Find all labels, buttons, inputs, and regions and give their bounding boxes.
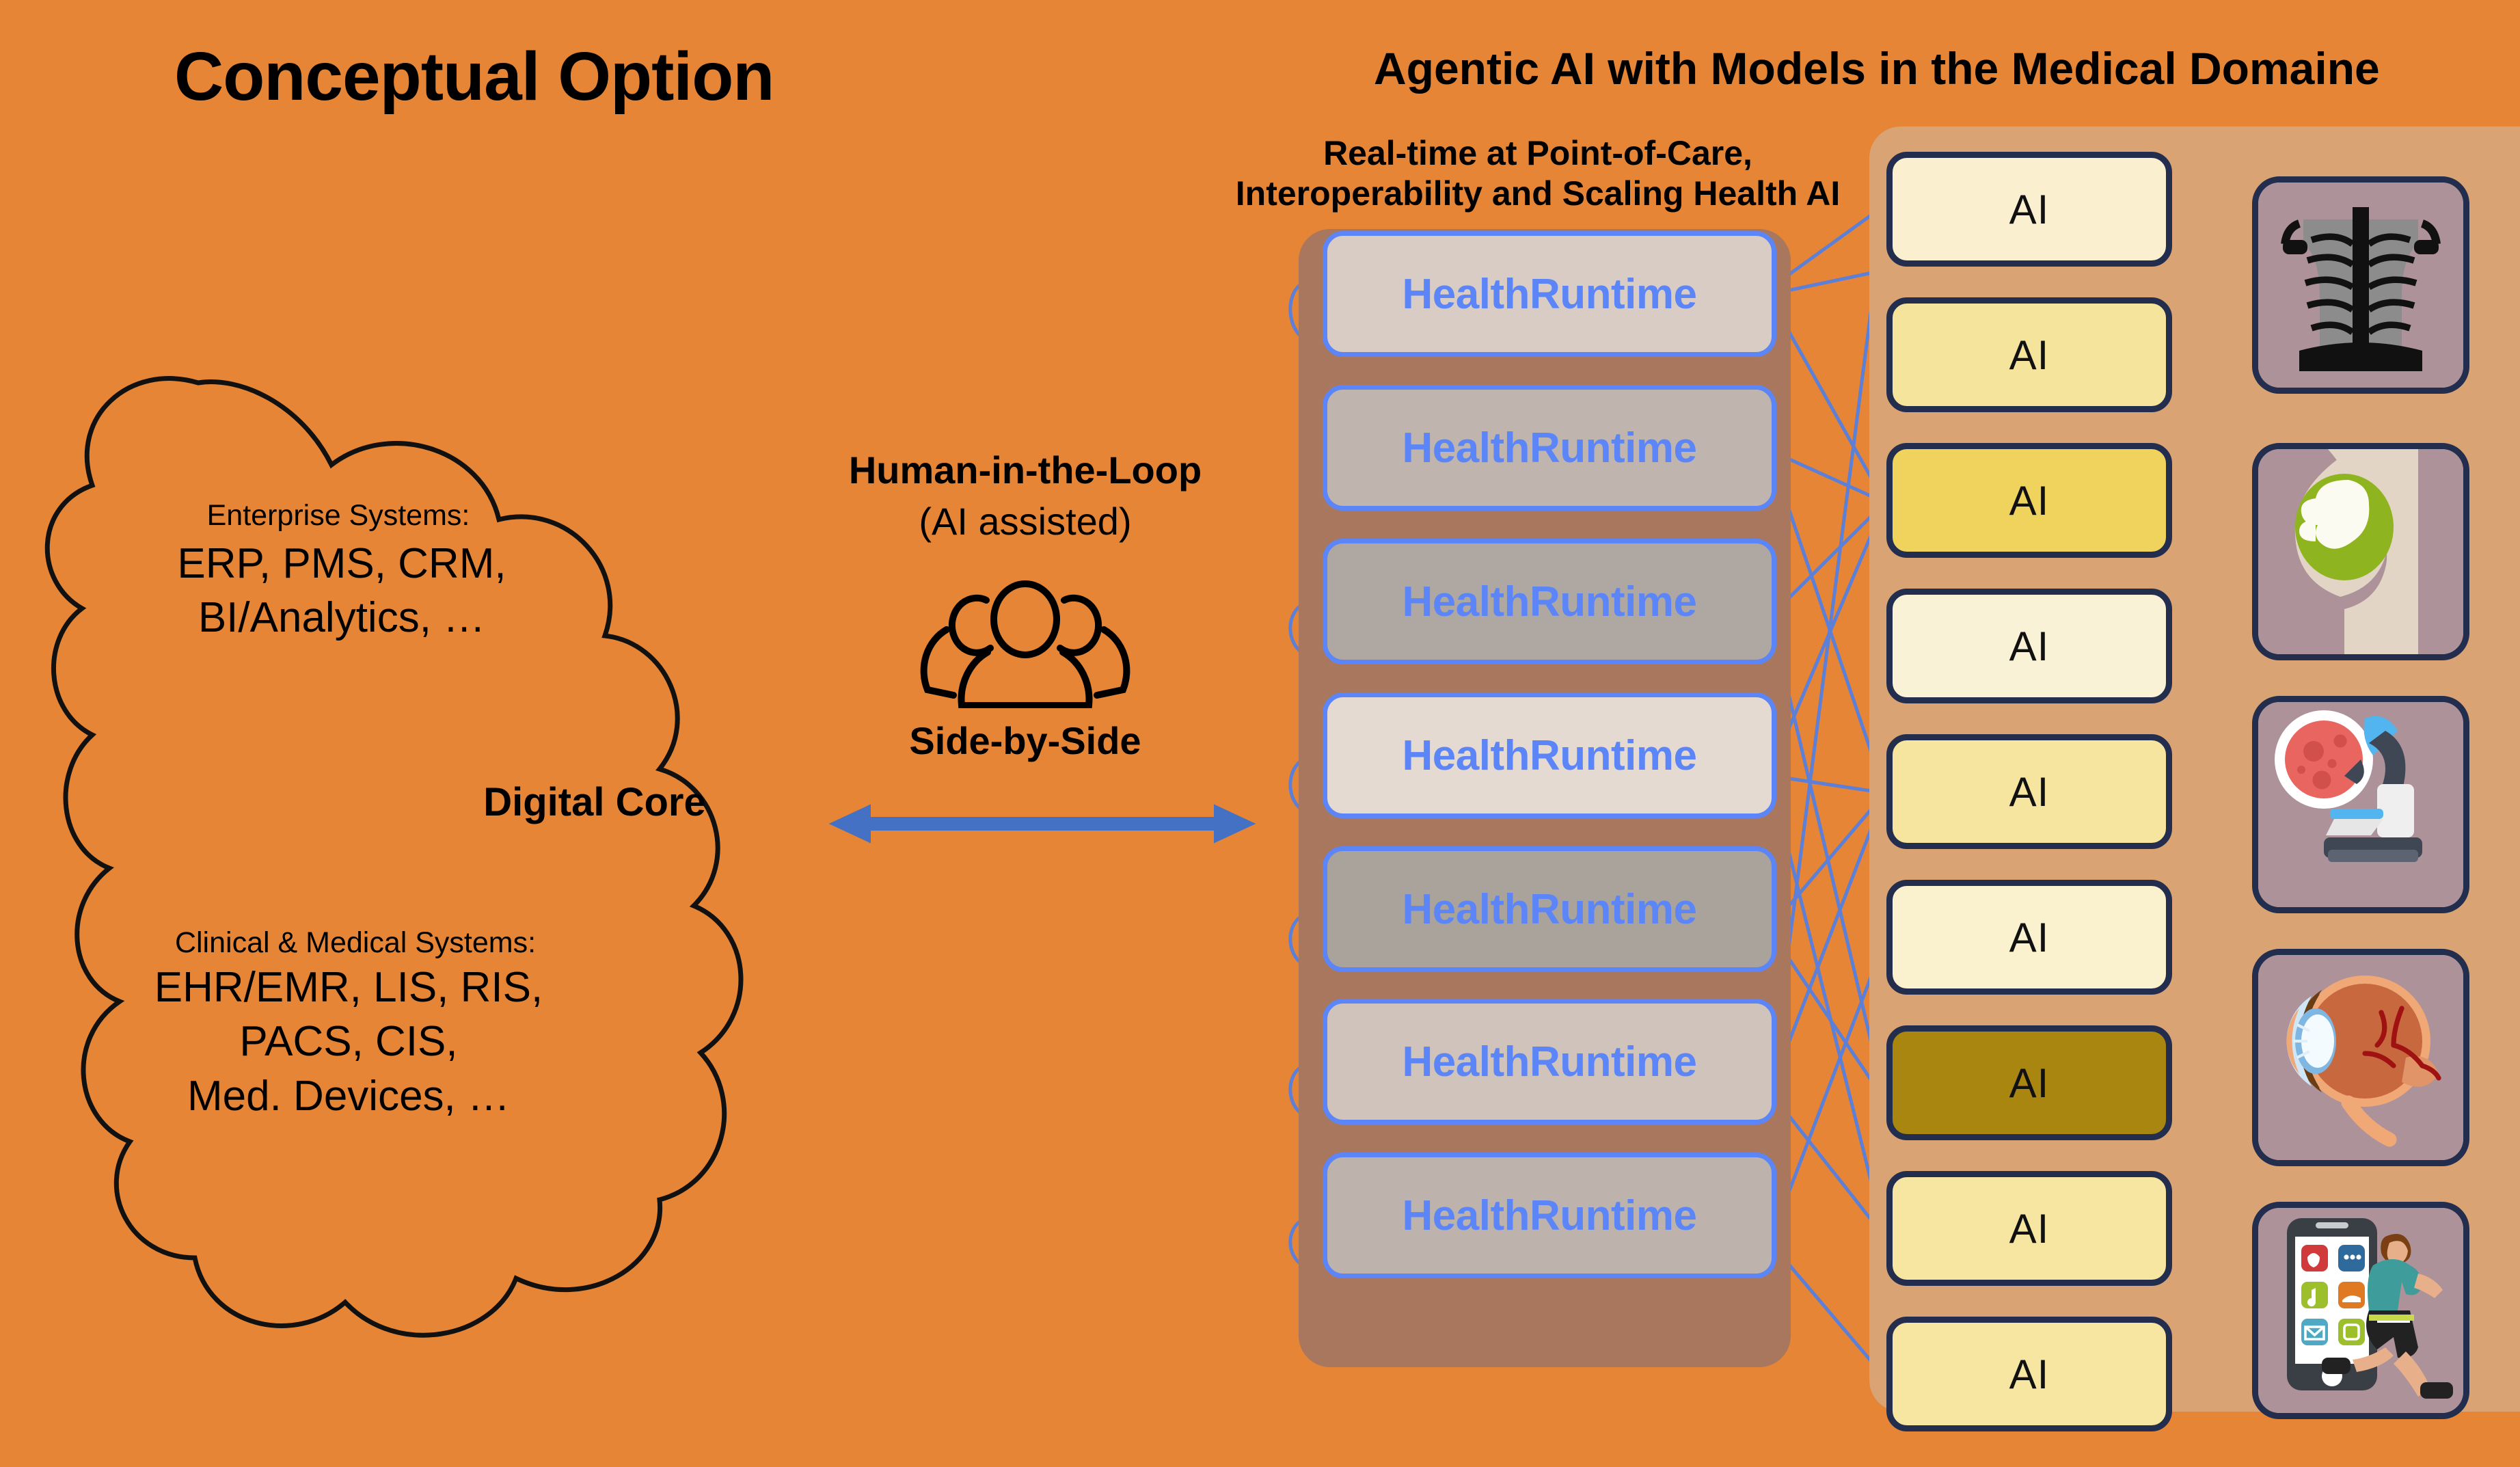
enterprise-line-1: ERP, PMS, CRM, <box>123 537 560 591</box>
health-runtime-label: HealthRuntime <box>1403 1038 1697 1086</box>
ai-model-label: AI <box>2009 768 2050 816</box>
health-runtime-label: HealthRuntime <box>1403 270 1697 319</box>
ai-model-box[interactable]: AI <box>1886 1317 2172 1431</box>
double-headed-arrow-icon <box>824 803 1261 844</box>
eye-anatomy-icon <box>2258 955 2463 1160</box>
digital-core-cloud: Enterprise Systems: ERP, PMS, CRM, BI/An… <box>27 246 875 1408</box>
subtitle-line-1: Real-time at Point-of-Care, <box>1210 133 1866 174</box>
health-runtime-label: HealthRuntime <box>1403 578 1697 626</box>
health-runtime-label: HealthRuntime <box>1403 424 1697 472</box>
health-runtime-box[interactable]: HealthRuntime <box>1323 692 1776 818</box>
prenatal-ultrasound-icon <box>2258 449 2463 654</box>
microscope-pathology-image[interactable] <box>2252 696 2469 913</box>
chest-xray-icon <box>2258 183 2463 388</box>
ai-model-box[interactable]: AI <box>1886 152 2172 267</box>
health-runtime-box[interactable]: HealthRuntime <box>1323 999 1776 1125</box>
ai-model-box[interactable]: AI <box>1886 443 2172 558</box>
ai-model-box[interactable]: AI <box>1886 589 2172 703</box>
health-runtime-box[interactable]: HealthRuntime <box>1323 846 1776 972</box>
ai-model-label: AI <box>2009 332 2050 379</box>
ai-model-label: AI <box>2009 1205 2050 1252</box>
health-runtime-label: HealthRuntime <box>1403 1192 1697 1240</box>
chest-xray-image[interactable] <box>2252 176 2469 394</box>
prenatal-ultrasound-image[interactable] <box>2252 443 2469 660</box>
ai-model-label: AI <box>2009 1351 2050 1398</box>
digital-core-label: Digital Core <box>451 779 738 825</box>
ai-model-label: AI <box>2009 914 2050 961</box>
clinical-line-2: PACS, CIS, <box>109 1014 588 1068</box>
microscope-pathology-icon <box>2258 702 2463 907</box>
clinical-line-1: EHR/EMR, LIS, RIS, <box>109 960 588 1014</box>
side-by-side-label: Side-by-Side <box>807 718 1244 763</box>
enterprise-systems-list: ERP, PMS, CRM, BI/Analytics, … <box>123 537 560 645</box>
ai-model-label: AI <box>2009 1060 2050 1107</box>
health-runtime-label: HealthRuntime <box>1403 731 1697 780</box>
health-runtime-box[interactable]: HealthRuntime <box>1323 231 1776 357</box>
ai-model-box[interactable]: AI <box>1886 1171 2172 1286</box>
mobile-health-app-image[interactable] <box>2252 1202 2469 1419</box>
health-runtime-box[interactable]: HealthRuntime <box>1323 539 1776 664</box>
ai-model-label: AI <box>2009 186 2050 233</box>
clinical-systems-list: EHR/EMR, LIS, RIS, PACS, CIS, Med. Devic… <box>109 960 588 1123</box>
hitl-title: Human-in-the-Loop <box>807 448 1244 493</box>
clinical-line-3: Med. Devices, … <box>109 1069 588 1123</box>
clinical-systems-label: Clinical & Medical Systems: <box>144 926 567 960</box>
people-group-icon <box>906 558 1145 708</box>
page-title-right: Agentic AI with Models in the Medical Do… <box>1374 42 2380 94</box>
mobile-health-app-icon <box>2258 1208 2463 1413</box>
eye-anatomy-image[interactable] <box>2252 949 2469 1166</box>
enterprise-systems-label: Enterprise Systems: <box>154 499 523 533</box>
ai-model-box[interactable]: AI <box>1886 880 2172 995</box>
health-runtime-box[interactable]: HealthRuntime <box>1323 385 1776 511</box>
human-in-the-loop-block: Human-in-the-Loop (AI assisted) Side-by-… <box>807 448 1244 763</box>
ai-model-box[interactable]: AI <box>1886 734 2172 849</box>
health-runtime-box[interactable]: HealthRuntime <box>1323 1153 1776 1278</box>
cloud-outline-icon <box>27 246 875 1408</box>
ai-model-label: AI <box>2009 477 2050 524</box>
enterprise-line-2: BI/Analytics, … <box>123 591 560 645</box>
hitl-subtitle: (AI assisted) <box>807 497 1244 547</box>
health-runtime-label: HealthRuntime <box>1403 885 1697 934</box>
ai-model-label: AI <box>2009 623 2050 670</box>
ai-model-box[interactable]: AI <box>1886 1025 2172 1140</box>
page-title-left: Conceptual Option <box>174 38 774 116</box>
page-subtitle-right: Real-time at Point-of-Care, Interoperabi… <box>1210 133 1866 214</box>
subtitle-line-2: Interoperability and Scaling Health AI <box>1210 174 1866 214</box>
ai-model-box[interactable]: AI <box>1886 297 2172 412</box>
